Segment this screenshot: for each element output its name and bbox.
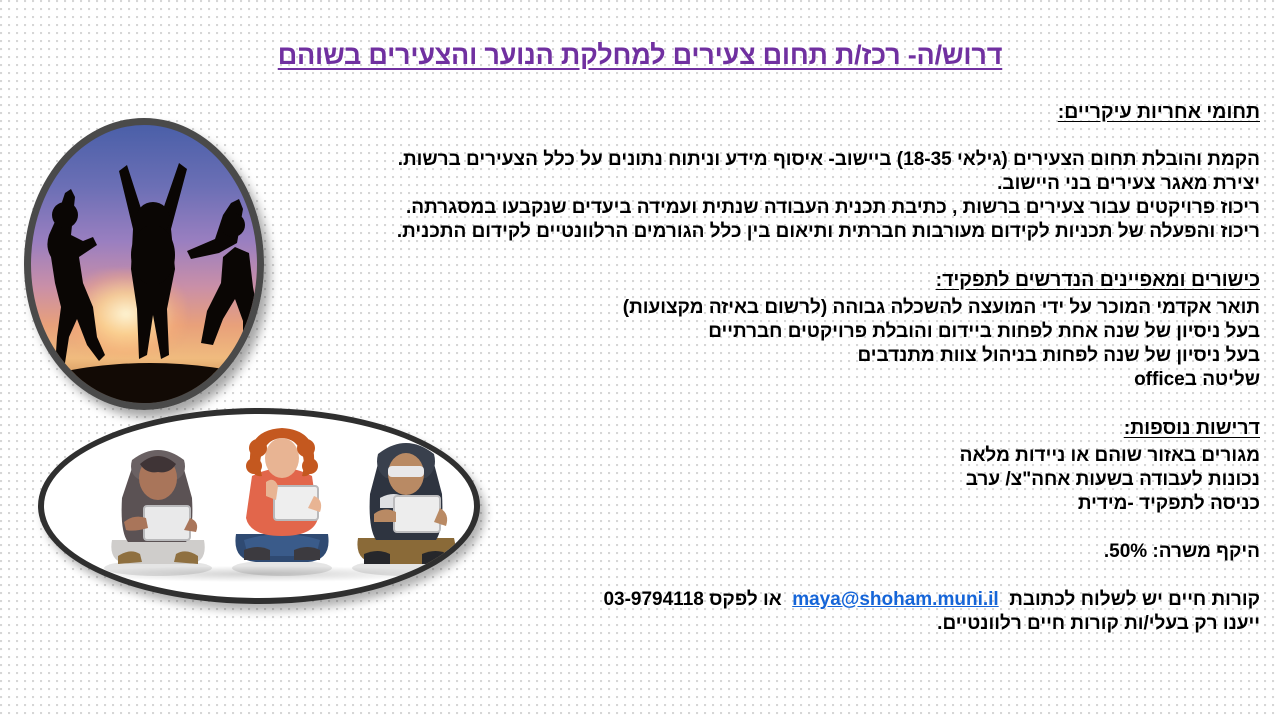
qualification-line: תואר אקדמי המוכר על ידי המועצה להשכלה גב…	[100, 296, 1260, 320]
fax-number: 03-9794118	[603, 588, 703, 612]
qualifications-heading: כישורים ומאפיינים הנדרשים לתפקיד:	[100, 268, 1260, 292]
section-position-scope: היקף משרה: 50%.	[100, 540, 1260, 564]
title-bar: דרוש/ה- רכז/ת תחום צעירים למחלקת הנוער ו…	[0, 40, 1280, 71]
additional-requirement-line: מגורים באזור שוהם או ניידות מלאה	[100, 444, 1260, 468]
responsibilities-heading: תחומי אחריות עיקריים:	[100, 100, 1260, 124]
section-contact: קורות חיים יש לשלוח לכתובת maya@shoham.m…	[100, 588, 1260, 636]
office-word: office	[1134, 368, 1185, 392]
additional-requirements-heading: דרישות נוספות:	[100, 416, 1260, 440]
contact-text-before-email: קורות חיים יש לשלוח לכתובת	[1009, 589, 1260, 610]
additional-requirement-line: נכונות לעבודה בשעות אחה"צ/ ערב	[100, 468, 1260, 492]
additional-requirement-line: כניסה לתפקיד -מידית	[100, 492, 1260, 516]
email-link[interactable]: maya@shoham.muni.il	[792, 588, 998, 612]
responsibility-line: הקמת והובלת תחום הצעירים (גילאי 18-35) ב…	[100, 148, 1260, 172]
qualification-line-office: שליטה בoffice	[100, 368, 1260, 392]
position-scope-text: היקף משרה: 50%.	[100, 540, 1260, 564]
contact-submission-line: קורות חיים יש לשלוח לכתובת maya@shoham.m…	[100, 588, 1260, 612]
responsibility-line: יצירת מאגר צעירים בני היישוב.	[100, 172, 1260, 196]
responsibility-line: ריכוז והפעלה של תכניות לקידום מעורבות חב…	[100, 220, 1260, 244]
qualification-line: בעל ניסיון של שנה אחת לפחות ביידום והובל…	[100, 320, 1260, 344]
section-responsibilities: תחומי אחריות עיקריים: הקמת והובלת תחום ה…	[100, 100, 1260, 244]
page-title: דרוש/ה- רכז/ת תחום צעירים למחלקת הנוער ו…	[278, 40, 1003, 71]
flyer-body: תחומי אחריות עיקריים: הקמת והובלת תחום ה…	[100, 100, 1260, 636]
section-qualifications: כישורים ומאפיינים הנדרשים לתפקיד: תואר א…	[100, 268, 1260, 392]
responsibility-line: ריכוז פרויקטים עבור צעירים ברשות , כתיבת…	[100, 196, 1260, 220]
qualification-office-prefix: שליטה ב	[1185, 369, 1260, 390]
qualification-line: בעל ניסיון של שנה לפחות בניהול צוות מתנד…	[100, 344, 1260, 368]
section-additional-requirements: דרישות נוספות: מגורים באזור שוהם או נייד…	[100, 416, 1260, 516]
contact-note-line: ייענו רק בעלי/ות קורות חיים רלוונטיים.	[100, 612, 1260, 636]
contact-text-before-fax: או לפקס	[709, 589, 782, 610]
